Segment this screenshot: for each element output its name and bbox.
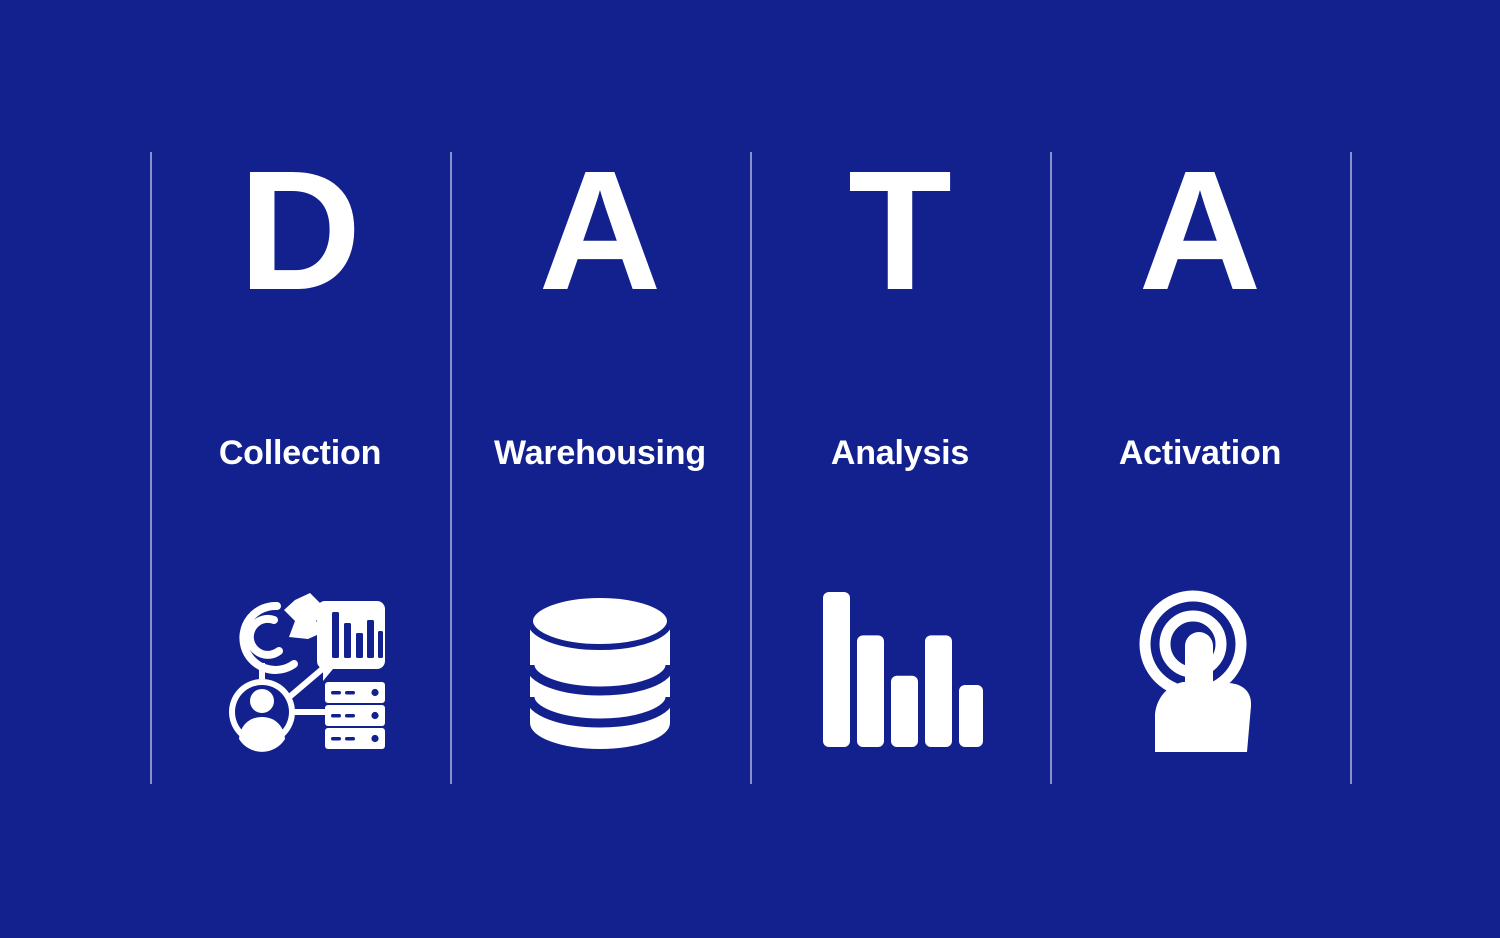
stage-label-activation: Activation: [1050, 434, 1350, 473]
bar-chart-icon: [750, 572, 1050, 772]
data-collection-icon: [150, 572, 450, 772]
stage-letter-d: D: [150, 146, 450, 316]
stage-label-analysis: Analysis: [750, 434, 1050, 473]
stage-label-warehousing: Warehousing: [450, 434, 750, 473]
stage-label-collection: Collection: [150, 434, 450, 473]
column-divider-4: [1350, 152, 1352, 784]
bar-1: [823, 592, 850, 747]
stage-letter-a-1: A: [450, 146, 750, 316]
stage-columns: D Collection: [150, 152, 1350, 784]
stage-column-collection: D Collection: [150, 152, 450, 784]
stage-letter-a-2: A: [1050, 146, 1350, 316]
stage-letter-t: T: [750, 146, 1050, 316]
database-cylinder-icon: [450, 572, 750, 772]
bar-3: [891, 676, 918, 747]
tap-gesture-icon: [1050, 572, 1350, 772]
bar-chart-svg: [818, 592, 983, 752]
stage-column-warehousing: A Warehousing: [450, 152, 750, 784]
bar-5: [959, 685, 983, 747]
bar-4: [925, 635, 952, 747]
stage-column-activation: A Activation: [1050, 152, 1350, 784]
stage-column-analysis: T Analysis: [750, 152, 1050, 784]
bar-2: [857, 635, 884, 747]
data-lifecycle-infographic: D Collection: [0, 0, 1500, 938]
